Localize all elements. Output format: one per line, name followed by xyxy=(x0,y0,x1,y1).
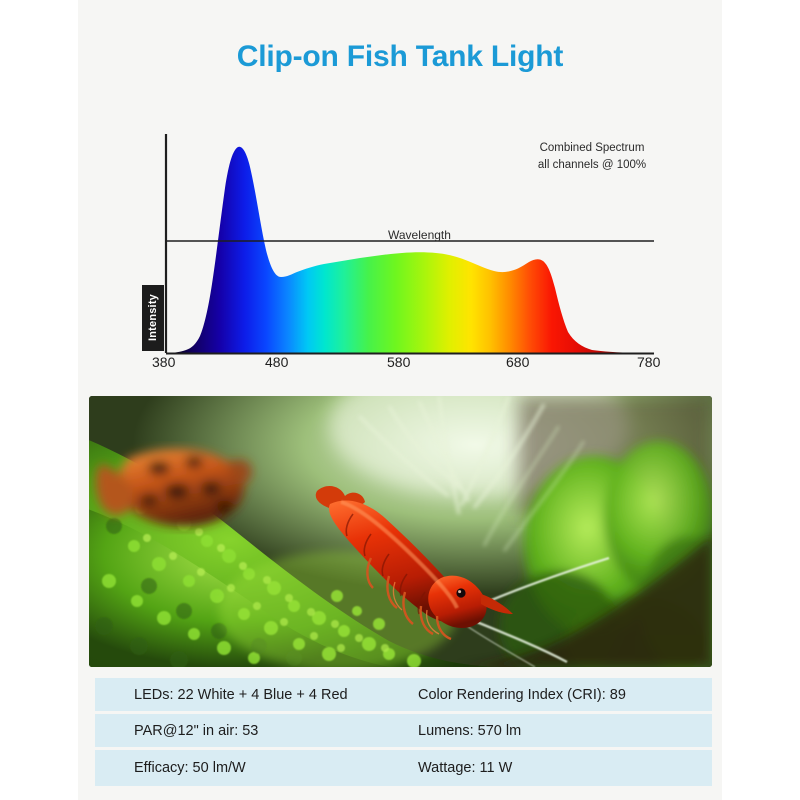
x-axis-label: Wavelength xyxy=(388,227,451,244)
shrimp-eye xyxy=(456,588,465,597)
x-tick-580: 580 xyxy=(387,354,410,370)
table-row: LEDs: 22 White + 4 Blue + 4 Red Color Re… xyxy=(95,678,712,714)
spec-wattage: Wattage: 11 W xyxy=(389,750,712,786)
aquarium-scene xyxy=(89,396,712,667)
page-title: Clip-on Fish Tank Light xyxy=(78,40,722,74)
table-row: PAR@12" in air: 53 Lumens: 570 lm xyxy=(95,714,712,750)
annotation-line-2: all channels @ 100% xyxy=(530,157,654,174)
x-tick-780: 780 xyxy=(637,354,660,370)
annotation-line-1: Combined Spectrum xyxy=(530,140,654,157)
x-tick-680: 680 xyxy=(506,354,529,370)
x-tick-480: 480 xyxy=(265,354,288,370)
y-axis-label-text: Intensity xyxy=(147,294,159,341)
product-photo xyxy=(89,396,712,667)
spec-par: PAR@12" in air: 53 xyxy=(95,714,389,747)
spec-table: LEDs: 22 White + 4 Blue + 4 Red Color Re… xyxy=(95,678,712,786)
product-infographic: Clip-on Fish Tank Light xyxy=(0,0,800,800)
spec-cri: Color Rendering Index (CRI): 89 xyxy=(389,678,712,711)
x-tick-380: 380 xyxy=(152,354,175,370)
spec-lumens: Lumens: 570 lm xyxy=(389,714,712,747)
spec-efficacy: Efficacy: 50 lm/W xyxy=(95,750,389,786)
y-axis-label: Intensity xyxy=(142,285,164,351)
table-row: Efficacy: 50 lm/W Wattage: 11 W xyxy=(95,750,712,786)
chart-annotation-combined-spectrum: Combined Spectrum all channels @ 100% xyxy=(530,140,654,173)
spectrum-curve xyxy=(166,147,654,353)
spec-leds: LEDs: 22 White + 4 Blue + 4 Red xyxy=(95,678,389,711)
